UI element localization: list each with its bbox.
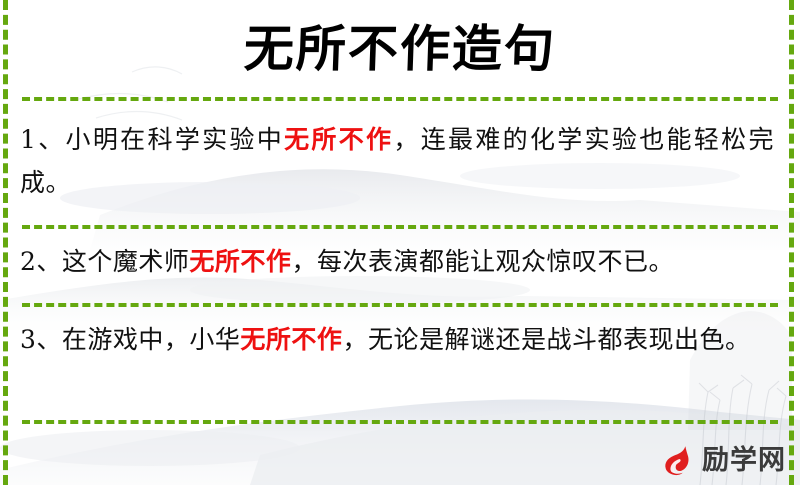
worksheet-page: 无所不作造句 1、小明在科学实验中无所不作，连最难的化学实验也能轻松完成。 2、… <box>0 0 800 485</box>
brand-name: 励学网 <box>702 447 786 474</box>
sentence-2-idiom: 无所不作 <box>189 247 291 276</box>
example-sentence-2: 2、这个魔术师无所不作，每次表演都能让观众惊叹不已。 <box>20 240 774 283</box>
page-title: 无所不作造句 <box>243 24 557 74</box>
left-dashed-border <box>3 0 8 485</box>
sentence-2-text-before: 这个魔术师 <box>62 247 190 276</box>
separator-after-item-1 <box>22 225 778 229</box>
sentence-3-text-after: ，无论是解谜还是战斗都表现出色。 <box>342 325 750 354</box>
sentence-1-number: 1、 <box>20 125 66 154</box>
flame-swirl-icon <box>662 443 696 477</box>
sentence-1-text-before: 小明在科学实验中 <box>66 125 285 154</box>
sentence-3-number: 3、 <box>20 325 62 354</box>
separator-under-title <box>22 97 778 101</box>
site-watermark: 励学网 <box>662 443 786 477</box>
example-sentence-1: 1、小明在科学实验中无所不作，连最难的化学实验也能轻松完成。 <box>20 118 774 204</box>
sentence-3-idiom: 无所不作 <box>240 325 342 354</box>
right-dashed-border <box>789 0 794 485</box>
sentence-1-idiom: 无所不作 <box>284 125 393 154</box>
example-sentence-3: 3、在游戏中，小华无所不作，无论是解谜还是战斗都表现出色。 <box>20 318 774 361</box>
separator-after-item-3 <box>22 420 778 424</box>
separator-after-item-2 <box>22 303 778 307</box>
sentence-2-text-after: ，每次表演都能让观众惊叹不已。 <box>291 247 674 276</box>
title-area: 无所不作造句 <box>0 8 800 90</box>
sentence-2-number: 2、 <box>20 247 62 276</box>
sentence-3-text-before: 在游戏中，小华 <box>62 325 241 354</box>
